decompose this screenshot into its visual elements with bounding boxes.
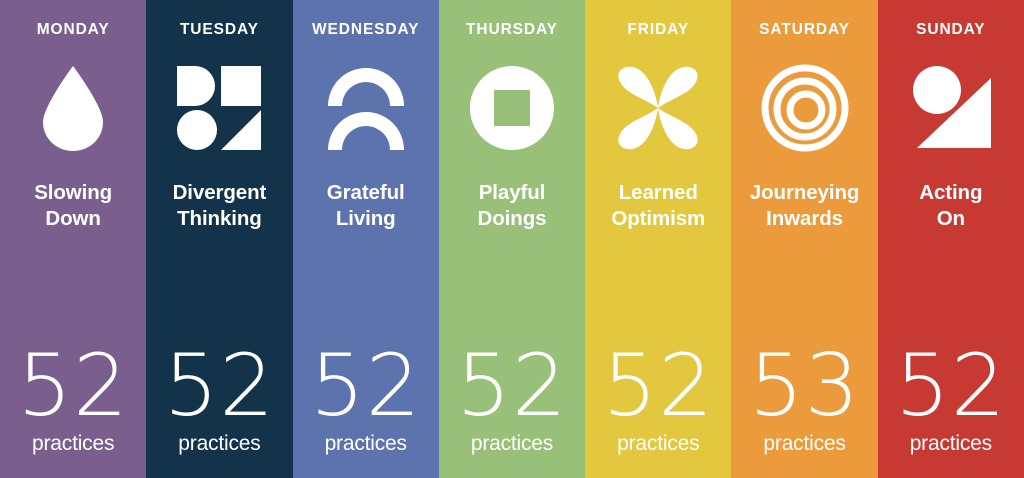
theme-line-2: Living (336, 207, 396, 230)
count-block-sunday: 52 practices (878, 350, 1024, 454)
day-label-sunday: SUNDAY (916, 22, 985, 38)
practice-count-thursday: 52 (439, 350, 585, 424)
count-block-thursday: 52 practices (439, 350, 585, 454)
day-column-monday[interactable]: MONDAY SlowingDown 52 practices (0, 0, 146, 478)
practice-unit-tuesday: practices (146, 433, 292, 454)
theme-line-2: Inwards (766, 207, 843, 230)
practice-unit-saturday: practices (731, 433, 877, 454)
theme-line-2: Doings (478, 207, 547, 230)
theme-line-1: Playful (479, 181, 546, 204)
day-column-thursday[interactable]: THURSDAY PlayfulDoings 52 practices (439, 0, 585, 478)
day-column-saturday[interactable]: SATURDAY JourneyingInwards 53 practices (731, 0, 877, 478)
practice-unit-thursday: practices (439, 433, 585, 454)
practice-unit-friday: practices (585, 433, 731, 454)
day-column-tuesday[interactable]: TUESDAY DivergentThinking 52 practices (146, 0, 292, 478)
day-column-wednesday[interactable]: WEDNESDAY GratefulLiving 52 practices (293, 0, 439, 478)
four-shape-grid-icon (173, 62, 265, 154)
day-label-thursday: THURSDAY (466, 22, 558, 38)
double-arch-icon (320, 62, 412, 154)
theme-line-1: Slowing (34, 181, 112, 204)
day-label-friday: FRIDAY (627, 22, 689, 38)
weekly-practices-board: MONDAY SlowingDown 52 practices TUESDAY … (0, 0, 1024, 478)
four-petal-flower-icon (612, 62, 704, 154)
count-block-tuesday: 52 practices (146, 350, 292, 454)
practice-unit-sunday: practices (878, 433, 1024, 454)
practice-unit-wednesday: practices (293, 433, 439, 454)
theme-line-2: Thinking (177, 207, 262, 230)
theme-label-saturday: JourneyingInwards (744, 180, 866, 232)
day-label-wednesday: WEDNESDAY (312, 22, 419, 38)
practice-count-sunday: 52 (878, 350, 1024, 424)
day-label-tuesday: TUESDAY (180, 22, 259, 38)
practice-count-saturday: 53 (731, 350, 877, 424)
theme-label-monday: SlowingDown (28, 180, 118, 232)
theme-label-tuesday: DivergentThinking (167, 180, 273, 232)
concentric-circles-icon (759, 62, 851, 154)
day-label-monday: MONDAY (37, 22, 110, 38)
theme-label-sunday: ActingOn (913, 180, 988, 232)
theme-line-1: Journeying (750, 181, 860, 204)
circle-with-square-cutout-icon (466, 62, 558, 154)
theme-line-2: On (937, 207, 965, 230)
practice-count-tuesday: 52 (146, 350, 292, 424)
count-block-saturday: 53 practices (731, 350, 877, 454)
theme-label-friday: LearnedOptimism (605, 180, 711, 232)
theme-label-thursday: PlayfulDoings (472, 180, 553, 232)
practice-count-friday: 52 (585, 350, 731, 424)
circle-and-triangle-icon (905, 62, 997, 154)
theme-line-2: Optimism (611, 207, 705, 230)
day-column-friday[interactable]: FRIDAY LearnedOptimism 52 practices (585, 0, 731, 478)
theme-line-2: Down (45, 207, 100, 230)
theme-line-1: Divergent (173, 181, 267, 204)
water-droplet-icon (27, 62, 119, 154)
theme-label-wednesday: GratefulLiving (321, 180, 411, 232)
practice-unit-monday: practices (0, 433, 146, 454)
practice-count-monday: 52 (0, 350, 146, 424)
day-column-sunday[interactable]: SUNDAY ActingOn 52 practices (878, 0, 1024, 478)
day-label-saturday: SATURDAY (759, 22, 850, 38)
theme-line-1: Acting (919, 181, 982, 204)
count-block-monday: 52 practices (0, 350, 146, 454)
count-block-friday: 52 practices (585, 350, 731, 454)
theme-line-1: Grateful (327, 181, 405, 204)
practice-count-wednesday: 52 (293, 350, 439, 424)
theme-line-1: Learned (619, 181, 698, 204)
count-block-wednesday: 52 practices (293, 350, 439, 454)
